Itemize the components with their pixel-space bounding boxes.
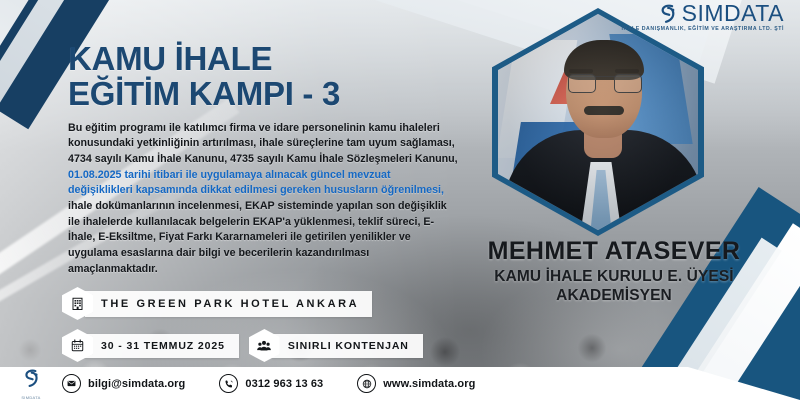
brand-tagline: İHALE DANIŞMANLIK, EĞİTİM VE ARAŞTIRMA L… <box>621 27 784 32</box>
event-detail-row-venue: THE GREEN PARK HOTEL ANKARA <box>62 287 423 320</box>
poster-title: KAMU İHALE EĞİTİM KAMPI - 3 <box>68 42 340 112</box>
portrait-shading <box>498 14 698 230</box>
footer-contacts: bilgi@simdata.org 0312 963 13 63 <box>62 374 475 393</box>
contact-email-text: bilgi@simdata.org <box>88 378 185 390</box>
venue-label: THE GREEN PARK HOTEL ANKARA <box>85 291 372 317</box>
globe-icon <box>357 374 376 393</box>
envelope-icon <box>62 374 81 393</box>
footer-logo-caption: SIMDATA <box>21 395 42 400</box>
speaker-role-line-2: AKADEMİSYEN <box>436 287 792 306</box>
sd-monogram-icon <box>657 3 679 25</box>
speaker-photo-frame <box>492 8 704 236</box>
capacity-pill: SINIRLI KONTENJAN <box>249 329 423 362</box>
description-part-1: Bu eğitim programı ile katılımcı firma v… <box>68 122 458 165</box>
event-details: THE GREEN PARK HOTEL ANKARA <box>62 287 423 371</box>
event-poster: SIMDATA İHALE DANIŞMANLIK, EĞİTİM VE ARA… <box>0 0 800 400</box>
brand-logo: SIMDATA İHALE DANIŞMANLIK, EĞİTİM VE ARA… <box>621 2 784 32</box>
footer-bar: SIMDATA bilgi@simdata.org <box>0 367 800 400</box>
date-pill: 30 - 31 TEMMUZ 2025 <box>62 329 239 362</box>
venue-pill: THE GREEN PARK HOTEL ANKARA <box>62 287 372 320</box>
contact-website[interactable]: www.simdata.org <box>357 374 475 393</box>
speaker-info: MEHMET ATASEVER KAMU İHALE KURULU E. ÜYE… <box>436 238 792 306</box>
event-detail-row-date-capacity: 30 - 31 TEMMUZ 2025 SINIRLI KONTENJAN <box>62 329 423 362</box>
contact-phone-text: 0312 963 13 63 <box>245 378 323 390</box>
speaker-role-line-1: KAMU İHALE KURULU E. ÜYESİ <box>436 268 792 287</box>
date-label: 30 - 31 TEMMUZ 2025 <box>85 334 239 358</box>
poster-title-line-1: KAMU İHALE <box>68 40 272 77</box>
contact-email[interactable]: bilgi@simdata.org <box>62 374 185 393</box>
description-highlight: 01.08.2025 tarihi itibari ile uygulamaya… <box>68 169 444 197</box>
brand-logo-row: SIMDATA <box>621 2 784 25</box>
brand-name: SIMDATA <box>682 2 784 25</box>
contact-website-text: www.simdata.org <box>383 378 475 390</box>
sd-monogram-icon <box>21 368 42 389</box>
speaker-portrait <box>498 14 698 230</box>
speaker-role: KAMU İHALE KURULU E. ÜYESİ AKADEMİSYEN <box>436 268 792 306</box>
speaker-name: MEHMET ATASEVER <box>436 238 792 265</box>
description-part-2: ihale dokümanlarının incelenmesi, EKAP s… <box>68 200 447 275</box>
contact-phone[interactable]: 0312 963 13 63 <box>219 374 323 393</box>
phone-icon <box>219 374 238 393</box>
poster-description: Bu eğitim programı ile katılımcı firma v… <box>68 121 458 278</box>
poster-title-line-2: EĞİTİM KAMPI - 3 <box>68 77 340 112</box>
footer-logo: SIMDATA <box>0 368 62 400</box>
capacity-label: SINIRLI KONTENJAN <box>272 334 423 358</box>
